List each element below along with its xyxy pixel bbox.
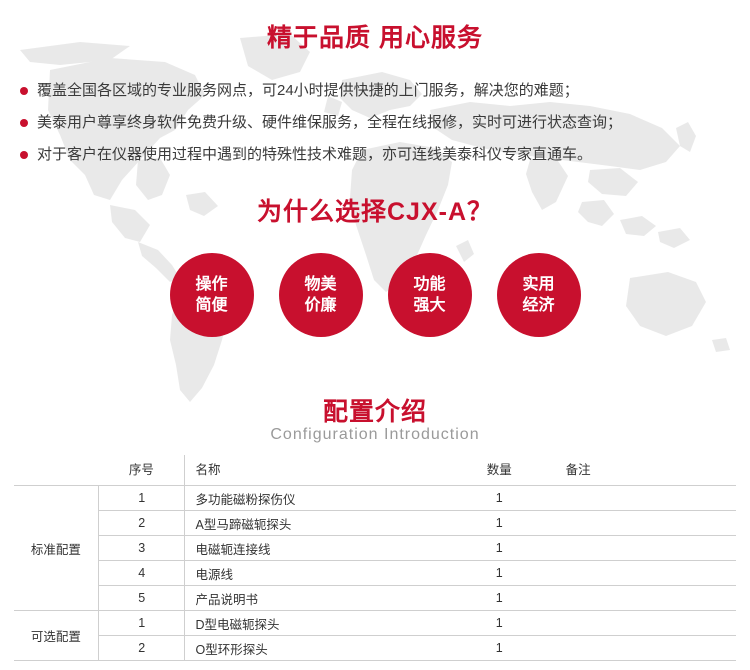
cell-no: 2 [98,636,185,661]
cell-qty: 1 [443,536,556,561]
group-label-optional: 可选配置 [14,611,98,661]
table-row: 4 电源线 1 [14,561,736,586]
benefit-text: 美泰用户尊享终身软件免费升级、硬件维保服务，全程在线报修，实时可进行状态查询； [37,112,622,134]
cell-no: 2 [98,511,185,536]
list-item: 美泰用户尊享终身软件免费升级、硬件维保服务，全程在线报修，实时可进行状态查询； [20,112,740,134]
table-row: 2 O型环形探头 1 [14,636,736,661]
cell-qty: 1 [443,586,556,611]
cell-name: 产品说明书 [185,586,443,611]
cell-qty: 1 [443,636,556,661]
cell-qty: 1 [443,561,556,586]
column-header-no: 序号 [98,455,185,486]
feature-circle-line1: 物美 [304,274,336,295]
cell-note [556,536,736,561]
page-title: 精于品质 用心服务 [0,18,750,54]
cell-note [556,511,736,536]
configuration-title: 配置介绍 [0,392,750,428]
cell-name: A型马蹄磁轭探头 [185,511,443,536]
world-map-background [0,0,750,460]
column-header-qty: 数量 [443,455,556,486]
cell-no: 5 [98,586,185,611]
cell-no: 4 [98,561,185,586]
configuration-table-wrapper: 序号 名称 数量 备注 标准配置 1 多功能磁粉探伤仪 1 2 A型马蹄磁轭探头… [14,455,736,661]
column-header-group [14,455,98,486]
feature-circle-line1: 操作 [195,274,227,295]
bullet-dot-icon [20,119,28,127]
cell-note [556,636,736,661]
cell-name: 电磁轭连接线 [185,536,443,561]
cell-qty: 1 [443,486,556,511]
table-row: 可选配置 1 D型电磁轭探头 1 [14,611,736,636]
feature-circle-group: 操作 简便 物美 价廉 功能 强大 实用 经济 [0,253,750,337]
feature-circle-line2: 经济 [522,295,554,316]
feature-circle: 实用 经济 [497,253,581,337]
group-label-standard: 标准配置 [14,486,98,611]
table-header-row: 序号 名称 数量 备注 [14,455,736,486]
feature-circle-line2: 强大 [413,295,445,316]
cell-name: D型电磁轭探头 [185,611,443,636]
feature-circle-line1: 实用 [522,274,554,295]
bullet-dot-icon [20,87,28,95]
feature-circle: 物美 价廉 [279,253,363,337]
column-header-name: 名称 [185,455,443,486]
why-choose-title: 为什么选择CJX-A？ [0,192,750,228]
configuration-table: 序号 名称 数量 备注 标准配置 1 多功能磁粉探伤仪 1 2 A型马蹄磁轭探头… [14,455,736,661]
table-row: 5 产品说明书 1 [14,586,736,611]
page-root: 精于品质 用心服务 覆盖全国各区域的专业服务网点，可24小时提供快捷的上门服务，… [0,0,750,670]
cell-name: 多功能磁粉探伤仪 [185,486,443,511]
column-header-note: 备注 [556,455,736,486]
list-item: 覆盖全国各区域的专业服务网点，可24小时提供快捷的上门服务，解决您的难题； [20,80,740,102]
cell-note [556,586,736,611]
cell-note [556,486,736,511]
feature-circle-line2: 简便 [195,295,227,316]
cell-no: 3 [98,536,185,561]
cell-name: O型环形探头 [185,636,443,661]
list-item: 对于客户在仪器使用过程中遇到的特殊性技术难题，亦可连线美泰科仪专家直通车。 [20,144,740,166]
benefit-text: 覆盖全国各区域的专业服务网点，可24小时提供快捷的上门服务，解决您的难题； [37,80,579,102]
cell-qty: 1 [443,511,556,536]
benefit-list: 覆盖全国各区域的专业服务网点，可24小时提供快捷的上门服务，解决您的难题； 美泰… [20,80,740,176]
table-row: 2 A型马蹄磁轭探头 1 [14,511,736,536]
feature-circle-line1: 功能 [413,274,445,295]
feature-circle-line2: 价廉 [304,295,336,316]
cell-qty: 1 [443,611,556,636]
configuration-subtitle: Configuration Introduction [0,426,750,444]
cell-note [556,561,736,586]
cell-note [556,611,736,636]
cell-name: 电源线 [185,561,443,586]
feature-circle: 操作 简便 [170,253,254,337]
feature-circle: 功能 强大 [388,253,472,337]
table-row: 标准配置 1 多功能磁粉探伤仪 1 [14,486,736,511]
benefit-text: 对于客户在仪器使用过程中遇到的特殊性技术难题，亦可连线美泰科仪专家直通车。 [37,144,592,166]
bullet-dot-icon [20,151,28,159]
cell-no: 1 [98,611,185,636]
table-row: 3 电磁轭连接线 1 [14,536,736,561]
cell-no: 1 [98,486,185,511]
